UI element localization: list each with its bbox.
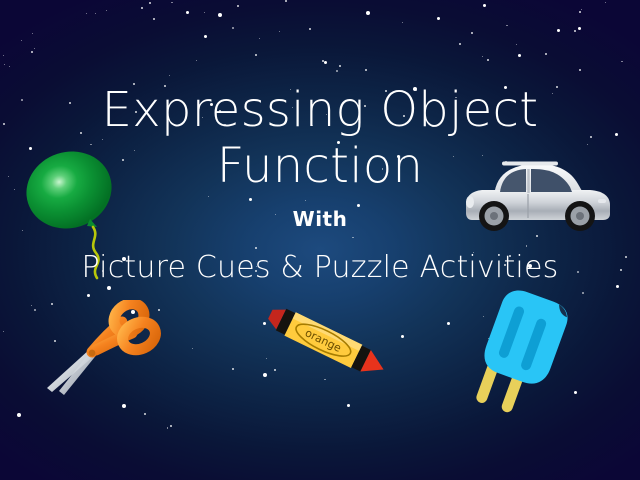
- with-label: With: [0, 207, 640, 231]
- star: [309, 28, 311, 30]
- star: [471, 32, 473, 34]
- star: [255, 247, 257, 249]
- star: [208, 196, 209, 197]
- star: [285, 0, 287, 2]
- star: [171, 2, 172, 3]
- star: [141, 7, 143, 9]
- star: [526, 245, 527, 246]
- star: [204, 12, 205, 13]
- star: [578, 27, 581, 30]
- star: [255, 54, 257, 56]
- star: [366, 11, 370, 15]
- title-slide: orange Expressing Object Function With P…: [0, 0, 640, 480]
- star: [516, 44, 517, 45]
- crayon-image: orange: [258, 300, 388, 400]
- scissors-image: [38, 300, 168, 400]
- star: [34, 48, 35, 49]
- star: [518, 54, 521, 57]
- star: [305, 200, 306, 201]
- star: [218, 13, 222, 17]
- star: [487, 59, 489, 61]
- star: [34, 309, 35, 310]
- star: [95, 13, 96, 14]
- star: [459, 43, 461, 45]
- star: [579, 11, 581, 13]
- star: [557, 29, 560, 32]
- star: [232, 368, 234, 370]
- title-line-2: Function: [0, 138, 640, 194]
- star: [149, 2, 151, 4]
- star: [153, 18, 155, 20]
- popsicle-image: [462, 288, 582, 418]
- star: [87, 294, 90, 297]
- star: [144, 413, 146, 415]
- star: [86, 13, 87, 14]
- star: [169, 75, 170, 76]
- star: [232, 27, 233, 28]
- star: [31, 51, 33, 53]
- star: [621, 61, 622, 62]
- star: [186, 11, 189, 14]
- star: [3, 55, 4, 56]
- star: [17, 413, 21, 417]
- page-subtitle: Picture Cues & Puzzle Activities: [0, 250, 640, 285]
- star: [9, 66, 10, 67]
- star: [579, 69, 581, 71]
- star: [249, 198, 252, 201]
- star: [122, 404, 126, 408]
- star: [616, 285, 619, 288]
- star: [192, 348, 193, 349]
- star: [259, 38, 260, 39]
- star: [237, 5, 239, 7]
- star: [279, 31, 280, 32]
- star: [536, 235, 538, 237]
- star: [336, 70, 337, 71]
- star: [545, 53, 547, 55]
- star: [324, 61, 327, 64]
- star: [437, 17, 440, 20]
- star: [21, 40, 22, 41]
- scissors-pivot-screw: [89, 350, 96, 357]
- star: [401, 335, 404, 338]
- star: [582, 292, 583, 293]
- star: [106, 10, 107, 11]
- star: [581, 9, 582, 10]
- title-line-1: Expressing Object: [0, 82, 640, 138]
- page-title: Expressing Object Function: [0, 82, 640, 194]
- star: [204, 35, 207, 38]
- star: [170, 425, 172, 427]
- car-taillight: [598, 199, 606, 203]
- star: [482, 56, 483, 57]
- star: [402, 22, 403, 23]
- star: [32, 33, 33, 34]
- star: [447, 322, 450, 325]
- star: [4, 64, 5, 65]
- star: [3, 331, 4, 332]
- star: [167, 427, 168, 428]
- star: [574, 30, 576, 32]
- star: [339, 65, 341, 67]
- star: [31, 305, 32, 306]
- star: [347, 404, 350, 407]
- star: [506, 25, 507, 26]
- star: [483, 4, 486, 7]
- star: [365, 69, 367, 71]
- star: [605, 2, 606, 3]
- star: [352, 237, 353, 238]
- star: [196, 60, 197, 61]
- star: [322, 60, 324, 62]
